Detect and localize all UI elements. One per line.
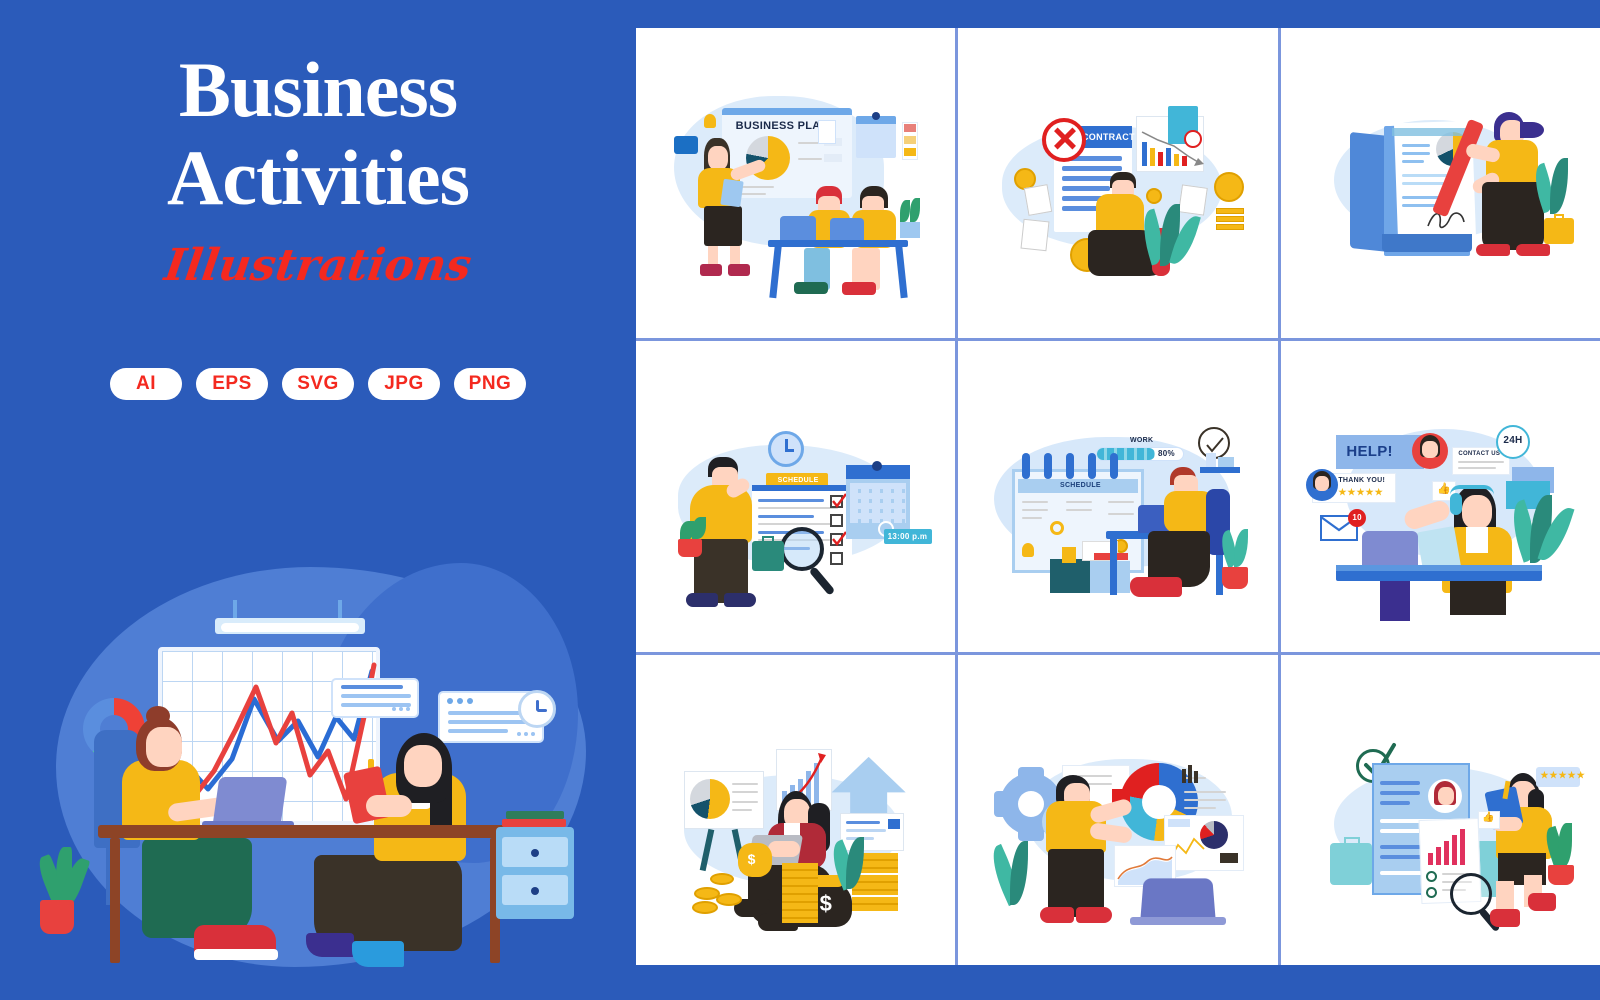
person-left-legs <box>142 838 252 938</box>
plant-pot <box>1222 567 1248 589</box>
checkbox-4[interactable] <box>830 552 843 565</box>
rejected-paper-3 <box>1178 184 1208 215</box>
meeting-desk <box>768 240 908 247</box>
card-badge <box>888 819 900 829</box>
check-circle-2 <box>1426 887 1437 898</box>
headset-earpiece <box>1450 493 1462 515</box>
desk-pedestal <box>1380 581 1410 621</box>
desk-leg-2 <box>895 246 907 298</box>
woman-shoe-1 <box>1476 244 1510 256</box>
format-badge-jpg[interactable]: JPG <box>368 368 440 400</box>
doc-thumb <box>818 120 836 144</box>
gear-icon <box>1050 521 1064 535</box>
thumbs-up-icon: 👍 <box>1482 812 1495 823</box>
plant-leaf-2 <box>1234 529 1248 567</box>
thank-you-label: THANK YOU! <box>1338 477 1385 484</box>
support-desk-top <box>1336 565 1542 571</box>
avatar-face <box>1438 787 1454 805</box>
format-badge-png[interactable]: PNG <box>454 368 526 400</box>
format-badge-eps[interactable]: EPS <box>196 368 268 400</box>
grid-cell-business-plan[interactable]: BUSINESS PLAN <box>636 28 955 338</box>
briefcase <box>1330 843 1372 885</box>
briefcase <box>752 541 784 571</box>
laptop-base <box>1130 917 1226 925</box>
leaf-2 <box>1010 841 1028 905</box>
cabinet-knob-top[interactable] <box>531 849 539 857</box>
presenter-folder <box>720 179 743 208</box>
page-title-line-1: Business <box>0 46 636 134</box>
spiral-ring-1 <box>1022 453 1030 479</box>
person-right-face <box>404 745 442 787</box>
coin-3 <box>1146 188 1162 204</box>
wooden-desk-top <box>98 825 518 838</box>
person-right-heel-1 <box>306 933 354 957</box>
lamp-tube <box>221 623 359 632</box>
wall-clock-icon <box>518 690 556 728</box>
grid-cell-customer-support[interactable]: HELP! THANK YOU! ★★★★★ CONTACT US 24H <box>1281 341 1600 651</box>
plant-leaf-2 <box>910 198 920 222</box>
woman-hand <box>768 841 800 857</box>
plant-pot <box>678 539 702 557</box>
calendar-pin <box>872 461 882 471</box>
legend-swatch-2 <box>824 154 842 162</box>
coin-stack-3 <box>1216 224 1244 230</box>
woman-shoe-2 <box>1516 244 1550 256</box>
book-green <box>506 811 564 819</box>
desk-leg-1 <box>1110 537 1117 595</box>
avatar-1-face <box>1422 441 1438 458</box>
spiral-ring-4 <box>1088 453 1096 479</box>
desk-leg-left <box>110 838 120 963</box>
laptop-2 <box>830 218 864 242</box>
check-circle-1 <box>1426 871 1437 882</box>
grid-cell-financial-growth[interactable]: $ $ <box>636 655 955 965</box>
shelf-book-2 <box>1218 457 1234 467</box>
schedule-banner-label: SCHEDULE <box>1060 482 1101 489</box>
lightbulb-icon <box>1022 543 1034 557</box>
format-badge-list: AI EPS SVG JPG PNG <box>0 368 636 400</box>
plant-leaf-2 <box>1558 823 1572 867</box>
briefcase-handle <box>762 536 774 543</box>
scene-customer-support: HELP! THANK YOU! ★★★★★ CONTACT US 24H <box>1300 381 1580 611</box>
briefcase-handle <box>1344 837 1360 845</box>
board-title: BUSINESS PLAN <box>736 120 829 132</box>
donut-hole <box>1142 785 1176 819</box>
contact-us-label: CONTACT US <box>1458 451 1500 457</box>
calendar <box>856 116 896 158</box>
progress-fill <box>1097 448 1155 460</box>
laptop <box>1140 878 1216 921</box>
dollar-sign-2: $ <box>820 891 833 917</box>
progress-value: 80% <box>1158 449 1175 458</box>
headset-band <box>1450 485 1494 495</box>
book-red <box>502 819 566 827</box>
chat-icon <box>674 136 698 154</box>
scene-signing <box>1300 68 1580 298</box>
spiral-ring-3 <box>1066 453 1074 479</box>
desk-leg-1 <box>769 246 781 298</box>
woman-ponytail <box>1520 122 1544 138</box>
wall-shelf <box>1200 467 1240 473</box>
time-label: 13:00 p.m <box>888 532 928 541</box>
woman-pants <box>1482 182 1544 250</box>
spiral-ring-5 <box>1110 453 1118 479</box>
plant-leaf <box>900 200 910 222</box>
page-title-line-2: Activities <box>0 134 636 222</box>
rejected-paper-1 <box>1024 184 1052 216</box>
person-left-face <box>146 727 182 767</box>
man-shoe-2 <box>724 593 756 607</box>
scene-schedule-review: SCHEDULE <box>656 381 936 611</box>
reject-badge <box>1184 130 1202 148</box>
grid-cell-schedule-review[interactable]: SCHEDULE <box>636 341 955 651</box>
grid-cell-work-progress[interactable]: WORK 80% SCHEDULE <box>958 341 1277 651</box>
reviewer-boot-1 <box>1490 909 1520 927</box>
schedule-banner-label: SCHEDULE <box>778 477 819 484</box>
illustration-grid: BUSINESS PLAN <box>636 28 1600 965</box>
person-right-heel-2 <box>352 941 404 967</box>
rejected-paper-2 <box>1020 219 1049 252</box>
format-badge-ai[interactable]: AI <box>110 368 182 400</box>
plant-pot <box>40 900 74 934</box>
lamp-rod-right <box>338 600 342 620</box>
magnifying-glass <box>780 527 824 571</box>
progress-title: WORK <box>1130 437 1153 444</box>
illustration-grid-panel: BUSINESS PLAN <box>636 28 1600 965</box>
plant-pot <box>1548 865 1574 885</box>
dollar-sign-1: $ <box>748 851 756 867</box>
thumbs-up-icon: 👍 <box>1437 482 1451 495</box>
grid-cell-contract-rejected[interactable]: CONTRACT <box>958 28 1277 338</box>
24h-label: 24H <box>1503 435 1522 446</box>
coin-stack-center <box>782 863 818 923</box>
briefcase <box>1544 218 1574 244</box>
scene-financial-growth: $ $ <box>656 695 936 925</box>
man-shoe <box>1130 577 1182 597</box>
scene-contract: CONTRACT <box>978 68 1258 298</box>
presenter-heel-2 <box>728 264 750 276</box>
colleague1-shoe <box>794 282 828 294</box>
star-rating: ★★★★★ <box>1540 770 1585 781</box>
scene-business-plan: BUSINESS PLAN <box>656 68 936 298</box>
hero-laptop <box>213 777 288 825</box>
hero-illustration <box>18 555 618 985</box>
scene-work-progress: WORK 80% SCHEDULE <box>978 381 1258 611</box>
loose-coin-3 <box>716 893 742 906</box>
format-badge-svg[interactable]: SVG <box>282 368 354 400</box>
man-shoe-2 <box>1076 907 1112 923</box>
calendar-grid <box>850 483 906 523</box>
presenter-skirt <box>704 206 742 246</box>
presenter-face <box>708 146 728 170</box>
briefcase-handle <box>1554 214 1564 220</box>
shelf-book-1 <box>1206 453 1216 467</box>
left-title-panel: Business Activities Illustrations AI EPS… <box>0 0 636 1000</box>
title-block: Business Activities Illustrations <box>0 46 636 291</box>
mail-badge-count: 10 <box>1352 513 1362 522</box>
magnifying-glass <box>1450 873 1492 915</box>
man-shoe-1 <box>1040 907 1074 923</box>
loose-coin-1 <box>710 873 734 885</box>
hero-popup-card <box>331 678 419 718</box>
coin-stack-1 <box>1216 208 1244 214</box>
help-label: HELP! <box>1346 443 1393 460</box>
plant-pot <box>900 222 920 238</box>
folder-front <box>1382 234 1472 252</box>
coin-2 <box>1214 172 1244 202</box>
coin-stack-2 <box>1216 216 1244 222</box>
presenter-heel-1 <box>700 264 722 276</box>
doc-tab <box>1392 128 1466 136</box>
agent-face <box>1462 495 1492 529</box>
loose-coin-4 <box>692 901 718 914</box>
grid-cell-resume-review[interactable]: ★★★★★ 👍 <box>1281 655 1600 965</box>
cabinet-knob-bottom[interactable] <box>531 887 539 895</box>
calendar-pin <box>872 112 880 120</box>
grid-cell-document-signing[interactable] <box>1281 28 1600 338</box>
laptop-1 <box>780 216 816 242</box>
folder-yellow <box>1062 547 1076 563</box>
avatar-2-face <box>1315 476 1329 491</box>
colleague2-shoe <box>842 282 876 295</box>
checkbox-2[interactable] <box>830 514 843 527</box>
lamp-rod-left <box>233 600 237 620</box>
person-left-hair-bun <box>146 706 170 726</box>
leaf-2 <box>1550 158 1568 214</box>
person-left-shoe-sole <box>194 949 278 960</box>
lightbulb-icon <box>704 114 716 128</box>
contract-label: CONTRACT <box>1082 132 1135 142</box>
star-rating-1: ★★★★★ <box>1338 487 1383 498</box>
person-right-hand <box>366 795 412 817</box>
coin-stack-right-3 <box>852 897 898 911</box>
spiral-ring-2 <box>1044 453 1052 479</box>
gear-hole <box>1018 791 1044 817</box>
agent-collar <box>1466 527 1488 553</box>
page-subtitle: Illustrations <box>0 240 640 291</box>
reviewer-boot-2 <box>1528 893 1556 911</box>
grid-cell-data-analytics[interactable] <box>958 655 1277 965</box>
scene-resume-review: ★★★★★ 👍 <box>1300 695 1580 925</box>
pie-chart <box>690 779 730 819</box>
scene-data-analytics <box>978 695 1258 925</box>
man-shoe-1 <box>686 593 718 607</box>
document-box-1 <box>1050 559 1094 593</box>
